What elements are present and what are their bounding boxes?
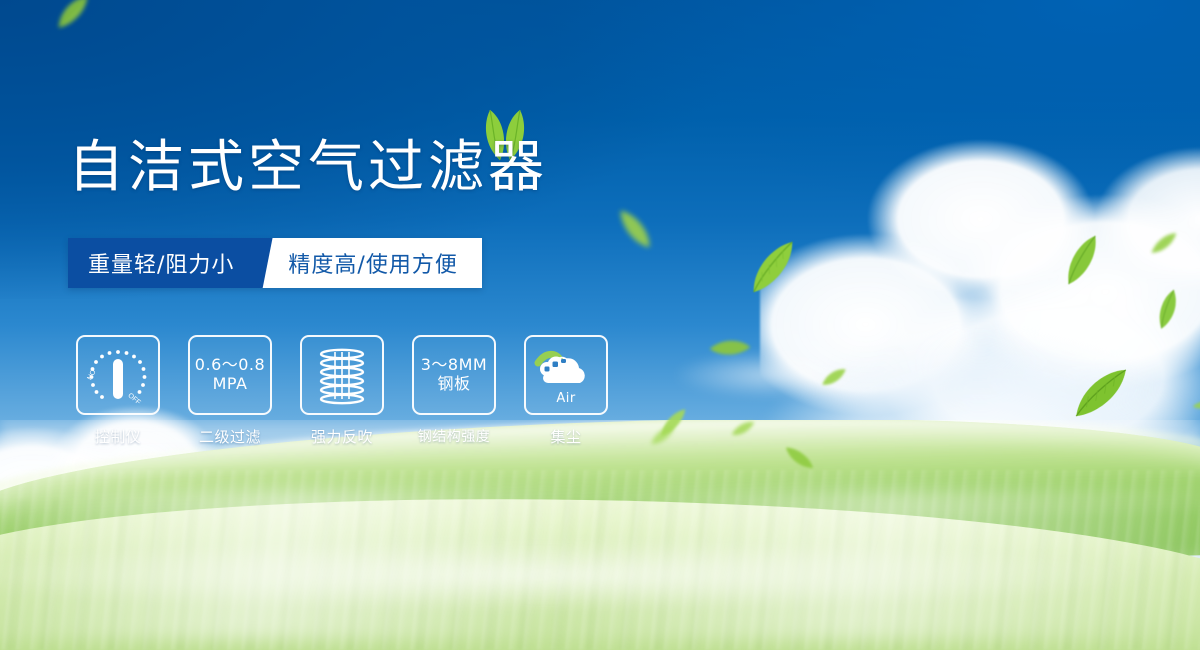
feature-label: 强力反吹 <box>311 426 373 447</box>
feature-icon-box: NO OFF <box>76 335 160 415</box>
banner-content: 自洁式空气过滤器 重量轻/阻力小 精度高/使用方便 <box>0 0 1200 650</box>
tagline-separator <box>256 238 282 288</box>
feature-icon-box: 0.6～0.8 MPA <box>188 335 272 415</box>
tagline-left: 重量轻/阻力小 <box>68 238 256 288</box>
feature-label: 二级过滤 <box>199 426 261 447</box>
feature-item-dust-collection[interactable]: Air 集尘 <box>524 335 608 447</box>
tagline-right: 精度高/使用方便 <box>282 238 481 288</box>
feature-item-two-stage-filter[interactable]: 0.6～0.8 MPA 二级过滤 <box>188 335 272 447</box>
dial-gauge-icon: NO OFF <box>82 342 154 408</box>
feature-item-steel-strength[interactable]: 3～8MM 钢板 钢结构强度 <box>412 335 496 447</box>
feature-label: 钢结构强度 <box>418 426 491 446</box>
pressure-unit: MPA <box>195 375 265 394</box>
feature-item-controller[interactable]: NO OFF 控制仪 <box>76 335 160 447</box>
feature-list: NO OFF 控制仪 0.6～0.8 MPA 二级过滤 <box>76 335 608 447</box>
dial-on-label: NO <box>86 368 97 381</box>
product-banner: 自洁式空气过滤器 重量轻/阻力小 精度高/使用方便 <box>0 0 1200 650</box>
air-caption: Air <box>526 391 606 406</box>
pressure-text-icon: 0.6～0.8 MPA <box>195 356 265 394</box>
cloud-air-icon <box>533 347 599 395</box>
feature-icon-box: Air <box>524 335 608 415</box>
feature-icon-box: 3～8MM 钢板 <box>412 335 496 415</box>
page-title: 自洁式空气过滤器 <box>68 140 548 196</box>
steel-plate-text-icon: 3～8MM 钢板 <box>421 356 487 394</box>
steel-thickness: 3～8MM <box>421 355 487 374</box>
feature-label: 集尘 <box>550 426 581 447</box>
dial-off-label: OFF <box>126 392 141 406</box>
tagline-bar: 重量轻/阻力小 精度高/使用方便 <box>68 238 482 288</box>
feature-label: 控制仪 <box>95 426 142 447</box>
filter-cartridge-icon <box>311 344 373 406</box>
pressure-value: 0.6～0.8 <box>195 355 265 374</box>
steel-material: 钢板 <box>421 375 487 394</box>
feature-icon-box <box>300 335 384 415</box>
feature-item-strong-blowback[interactable]: 强力反吹 <box>300 335 384 447</box>
